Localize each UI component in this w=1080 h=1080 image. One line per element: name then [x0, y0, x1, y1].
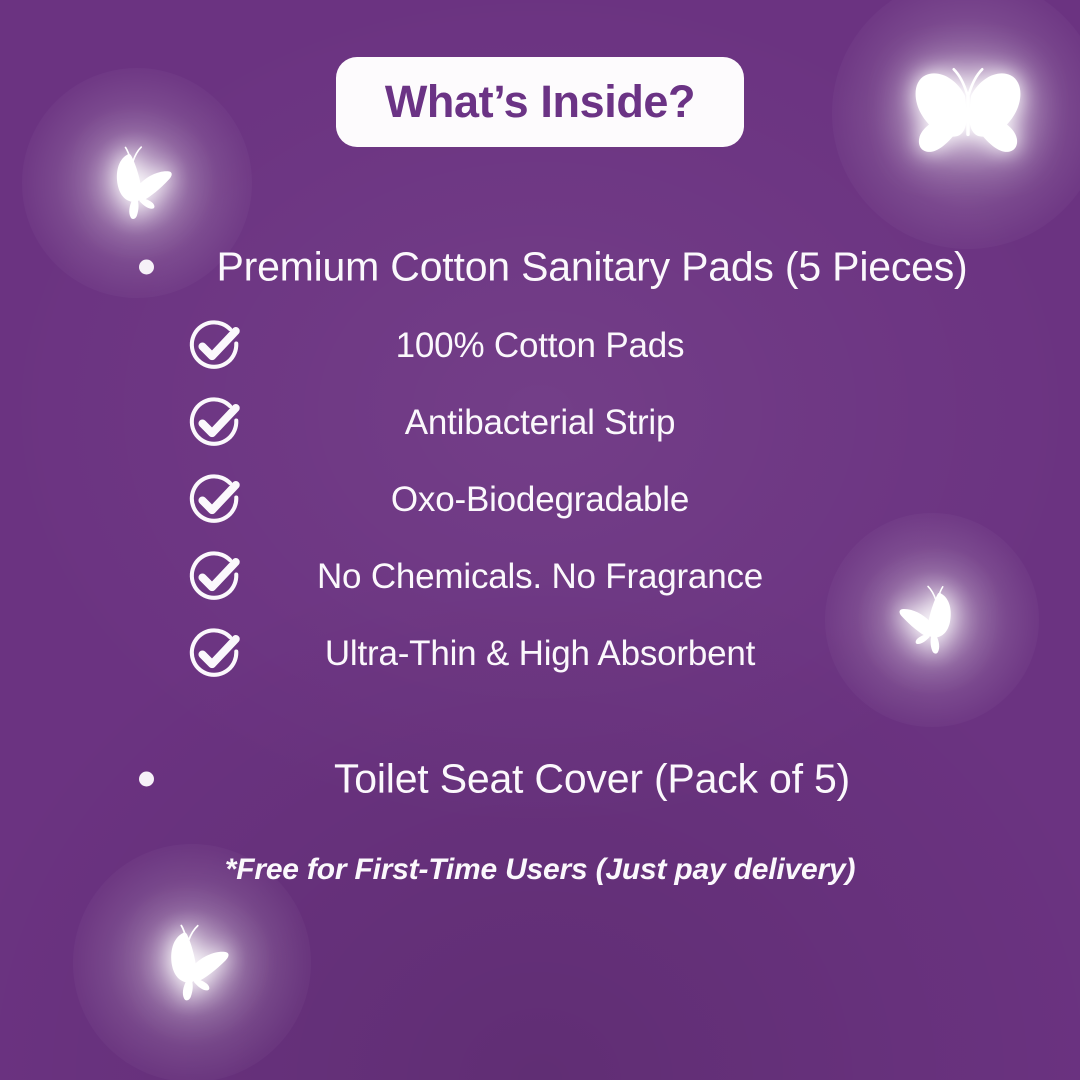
section-heading-pads: Premium Cotton Sanitary Pads (5 Pieces)	[0, 242, 1080, 292]
feature-checklist: 100% Cotton Pads Antibacterial Strip Oxo…	[0, 307, 1080, 692]
list-item: Ultra-Thin & High Absorbent	[0, 615, 1080, 692]
section-heading-label: Toilet Seat Cover (Pack of 5)	[212, 756, 972, 803]
butterfly-flying-glyph	[91, 137, 183, 229]
list-item-label: Ultra-Thin & High Absorbent	[0, 634, 1080, 674]
poster-canvas: What’s Inside? Premium Cotton Sanitary P…	[0, 0, 1080, 1080]
section-heading-toilet-seat-cover: Toilet Seat Cover (Pack of 5)	[0, 754, 1080, 804]
list-item-label: No Chemicals. No Fragrance	[0, 557, 1080, 597]
bullet-dot-icon	[139, 772, 154, 787]
list-item-label: Oxo-Biodegradable	[0, 480, 1080, 520]
butterfly-flying-glyph	[144, 915, 240, 1011]
list-item: Antibacterial Strip	[0, 384, 1080, 461]
list-item: 100% Cotton Pads	[0, 307, 1080, 384]
bullet-dot-icon	[139, 260, 154, 275]
footnote-text: *Free for First-Time Users (Just pay del…	[0, 853, 1080, 887]
butterfly-open-glyph	[907, 57, 1029, 169]
section-heading-label: Premium Cotton Sanitary Pads (5 Pieces)	[212, 244, 972, 291]
list-item: No Chemicals. No Fragrance	[0, 538, 1080, 615]
list-item-label: 100% Cotton Pads	[0, 326, 1080, 366]
list-item: Oxo-Biodegradable	[0, 461, 1080, 538]
list-item-label: Antibacterial Strip	[0, 403, 1080, 443]
page-title: What’s Inside?	[385, 79, 695, 124]
page-title-badge: What’s Inside?	[336, 57, 744, 147]
butterfly-glow	[832, 0, 1080, 249]
